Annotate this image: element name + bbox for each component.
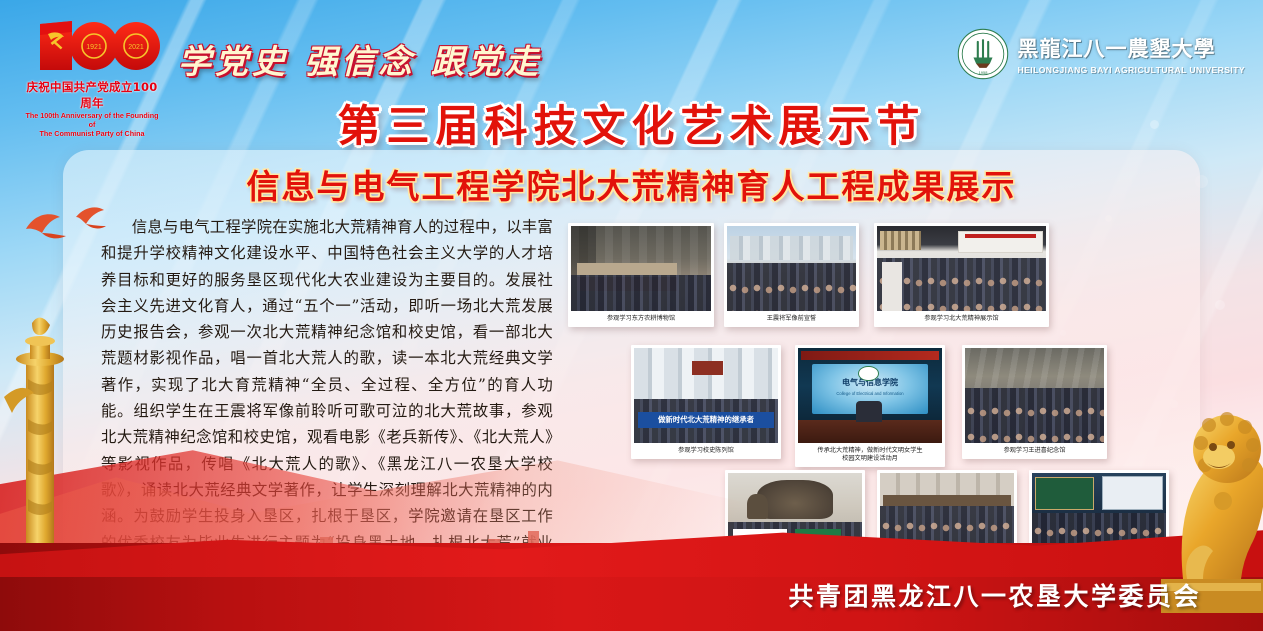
university-name-block: 黑龍江八一農墾大學 HEILONGJIANG BAYI AGRICULTURAL…	[1018, 33, 1245, 75]
photo-image-8	[880, 473, 1014, 547]
photo-card[interactable]: 电气与信息学院 College of Electrical and Inform…	[795, 345, 945, 467]
cpc-100-svg: 1921 2021	[22, 18, 162, 76]
photo-caption: 参观学习东方农耕博物馆	[571, 311, 711, 327]
photo-caption: 参观学习王进喜纪念馆	[965, 443, 1104, 459]
festival-title: 第三届科技文化艺术展示节	[0, 92, 1263, 154]
university-seal-icon: 1958	[957, 28, 1009, 80]
footer-organization: 共青团黑龙江八一农垦大学委员会	[788, 577, 1201, 613]
photo-image-5: 电气与信息学院 College of Electrical and Inform…	[798, 348, 942, 443]
photo-caption: 传承北大荒精神，做新时代文明女学生 校园文明建设活动月	[798, 443, 942, 467]
photo-image-2	[727, 226, 856, 311]
university-name-en: HEILONGJIANG BAYI AGRICULTURAL UNIVERSIT…	[1018, 65, 1245, 75]
university-brand: 1958 黑龍江八一農墾大學 HEILONGJIANG BAYI AGRICUL…	[957, 28, 1245, 80]
photo-image-6	[965, 348, 1104, 443]
photo-image-9	[1032, 473, 1166, 547]
photo-caption: 参观学习北大荒精神展示馆	[877, 311, 1046, 327]
photo-card[interactable]: 做新时代北大荒精神的继承者 参观学习校史陈列馆	[631, 345, 781, 459]
poster-canvas: 1921 2021 庆祝中国共产党成立100周年 The 100th Anniv…	[0, 0, 1263, 631]
photo-banner-text: 做新时代北大荒精神的继承者	[658, 414, 754, 425]
university-name-cn: 黑龍江八一農墾大學	[1018, 33, 1245, 63]
photo-card[interactable]: 参观学习王进喜纪念馆	[962, 345, 1107, 459]
photo-image-4: 做新时代北大荒精神的继承者	[634, 348, 778, 443]
cpc-100-graphic: 1921 2021	[22, 18, 162, 78]
cpc-year-left: 1921	[86, 44, 102, 51]
photo-card[interactable]: 参观学习北大荒精神展示馆	[874, 223, 1049, 327]
photo-card[interactable]: 王震将军像前宣誓	[724, 223, 859, 327]
bokeh-dot	[1215, 300, 1225, 310]
photo-card[interactable]: 参观学习东方农耕博物馆	[568, 223, 714, 327]
photo-screen-title-en: College of Electrical and Information	[812, 391, 927, 396]
cpc-year-right: 2021	[128, 44, 144, 51]
photo-image-1	[571, 226, 711, 311]
photo-image-3	[877, 226, 1046, 311]
svg-text:1958: 1958	[978, 70, 988, 75]
photo-caption: 参观学习校史陈列馆	[634, 443, 778, 459]
exhibition-subtitle: 信息与电气工程学院北大荒精神育人工程成果展示	[0, 160, 1263, 208]
photo-caption: 王震将军像前宣誓	[727, 311, 856, 327]
header-slogan: 学党史 强信念 跟党走	[178, 35, 542, 83]
